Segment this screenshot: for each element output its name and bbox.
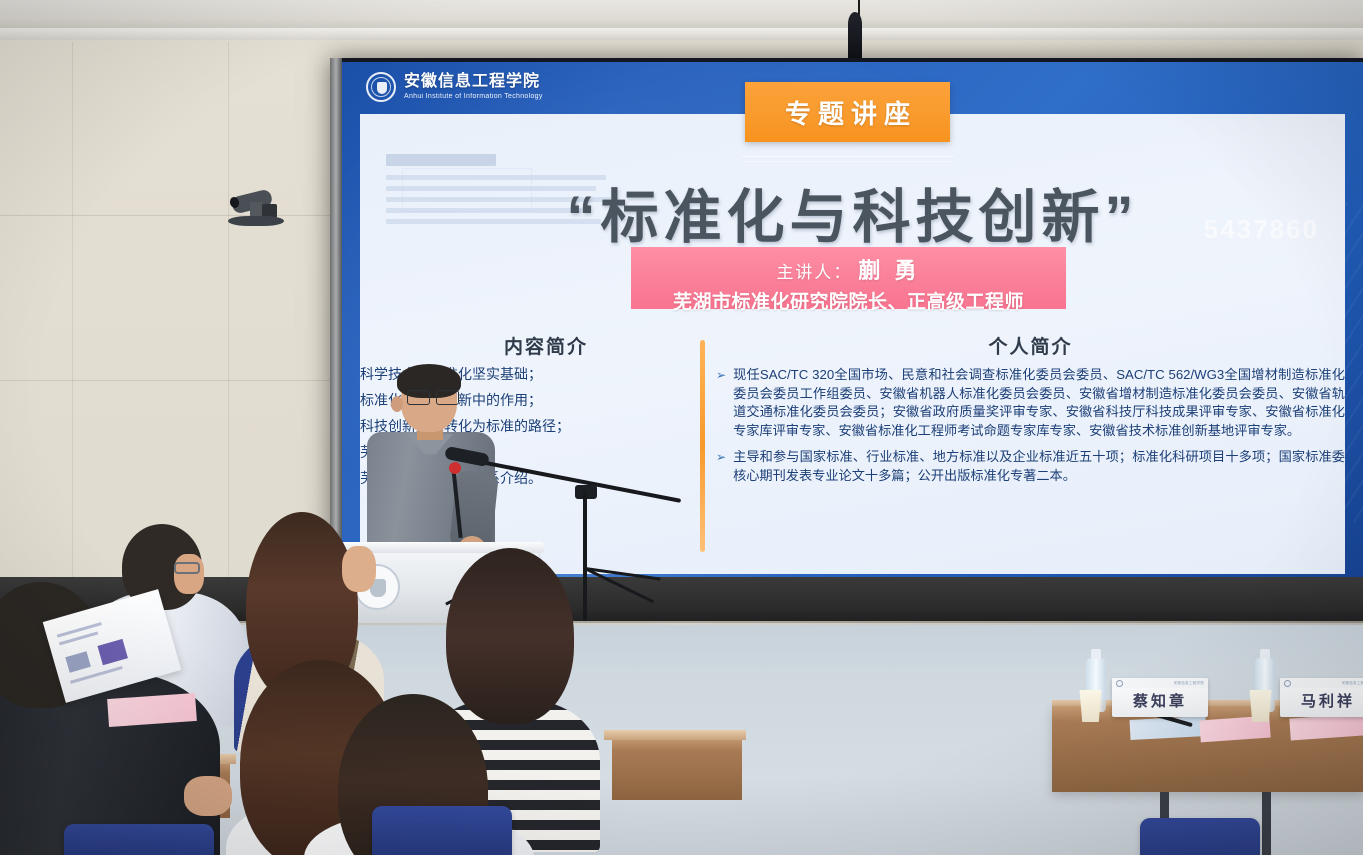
ptz-camera-icon	[228, 186, 284, 226]
speaker-name: 蒯 勇	[858, 258, 920, 283]
slide-title: “标准化与科技创新”	[342, 170, 1363, 254]
university-name-en: Anhui Institute of Information Technolog…	[404, 93, 543, 100]
list-item: ➢ 现任SAC/TC 320全国市场、民意和社会调查标准化委员会委员、SAC/T…	[716, 366, 1345, 441]
wall-seam	[72, 42, 73, 602]
speaker-line: 主讲人：蒯 勇	[631, 247, 1066, 285]
speaker-banner: 主讲人：蒯 勇 芜湖市标准化研究院院长、正高级工程师	[631, 247, 1066, 309]
chair	[372, 806, 512, 855]
nameplate-org: 安徽信息工程学院	[1342, 681, 1363, 686]
badge-rule-secondary	[742, 161, 954, 162]
nameplate-name: 马利祥	[1280, 688, 1363, 715]
list-item: ➢ 主导和参与国家标准、行业标准、地方标准以及企业标准近五十项；标准化科研项目十…	[716, 448, 1345, 485]
audience-desk-top	[604, 730, 746, 740]
list-item-text: 现任SAC/TC 320全国市场、民意和社会调查标准化委员会委员、SAC/TC …	[733, 366, 1345, 441]
chair	[64, 824, 214, 855]
wall-seam	[0, 380, 330, 381]
biography-column: 个人简介 ➢ 现任SAC/TC 320全国市场、民意和社会调查标准化委员会委员、…	[716, 332, 1345, 485]
nameplate-org: 安徽信息工程学院	[1174, 681, 1204, 686]
arrow-bullet-icon: ➢	[716, 366, 726, 441]
desk-leg	[1262, 792, 1271, 855]
lecture-hall-photo: 安徽信息工程学院 Anhui Institute of Information …	[0, 0, 1363, 855]
biography-heading: 个人简介	[716, 332, 1345, 359]
column-divider	[700, 340, 705, 552]
badge-rule	[742, 156, 954, 157]
topic-badge: 专题讲座	[745, 82, 950, 142]
nameplate-name: 蔡知章	[1112, 688, 1208, 715]
nameplate: 安徽信息工程学院 马利祥	[1280, 678, 1363, 717]
speaker-title: 芜湖市标准化研究院院长、正高级工程师	[631, 287, 1066, 314]
university-name-cn: 安徽信息工程学院	[404, 74, 543, 91]
audience-desk	[612, 738, 742, 800]
content-overview-heading: 内容简介	[396, 332, 696, 359]
nameplate-crest-icon	[1116, 680, 1123, 687]
hand	[184, 776, 232, 816]
university-crest-icon	[366, 72, 396, 102]
speaker-prefix: 主讲人：	[776, 263, 852, 282]
glasses-icon	[407, 390, 459, 403]
nameplate: 安徽信息工程学院 蔡知章	[1112, 678, 1208, 717]
list-item-text: 主导和参与国家标准、行业标准、地方标准以及企业标准近五十项；标准化科研项目十多项…	[733, 448, 1345, 485]
chair	[1140, 818, 1260, 855]
arrow-bullet-icon: ➢	[716, 448, 726, 485]
topic-badge-label: 专题讲座	[778, 94, 917, 131]
nameplate-crest-icon	[1284, 680, 1291, 687]
university-logo: 安徽信息工程学院 Anhui Institute of Information …	[366, 72, 543, 102]
